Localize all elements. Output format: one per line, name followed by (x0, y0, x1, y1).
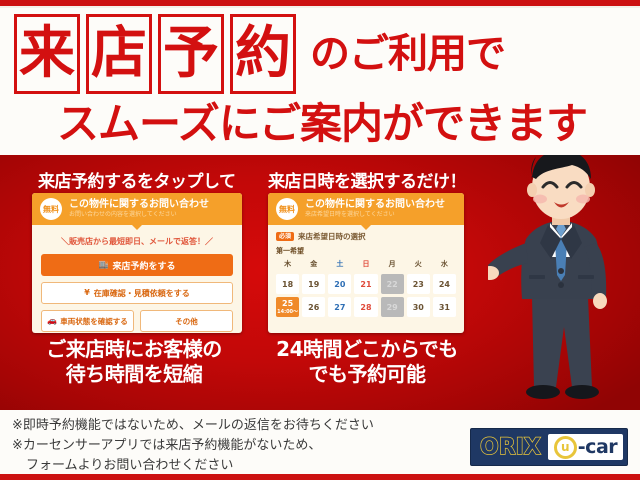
ucar-car-text: -car (578, 436, 617, 458)
calendar-date-cell[interactable]: 21 (354, 274, 377, 294)
vehicle-condition-label: 車両状態を確認する (60, 316, 128, 327)
calendar-date-number: 29 (387, 303, 398, 312)
calendar-date-cell[interactable]: 20 (328, 274, 351, 294)
panel-heading-right: 来店日時を選択するだけ！ (268, 167, 466, 192)
calendar-date-number: 31 (439, 303, 450, 312)
calendar-date-number: 30 (413, 303, 424, 312)
stock-quote-label: 在庫確認・見積依頼をする (94, 288, 190, 299)
calendar-date-number: 19 (308, 280, 319, 289)
caption-right: 24時間どこからでも でも予約可能 (262, 337, 472, 387)
calendar-day-header: 水 (433, 259, 456, 271)
calendar-date-cell[interactable]: 2514:00〜 (276, 297, 299, 317)
calendar-label-row: 必須 来店希望日時の選択 (276, 231, 456, 242)
mockup-left-header: 無料 この物件に関するお問い合わせ お問い合わせの内容を選択してください (32, 193, 242, 225)
free-badge-left: 無料 (40, 198, 62, 220)
yen-icon: ¥ (84, 289, 90, 297)
footer-note-1: ※即時予約機能ではないため、メールの返信をお待ちください (12, 416, 462, 436)
hero-suffix-text: のご利用で (310, 34, 505, 74)
calendar-date-number: 21 (360, 280, 371, 289)
store-icon: 🏬 (99, 261, 109, 269)
footer-section: ※即時予約機能ではないため、メールの返信をお待ちください ※カーセンサーアプリで… (0, 410, 640, 480)
header-notch (132, 225, 142, 230)
calendar-day-header: 火 (407, 259, 430, 271)
calendar-week-2: 2514:00〜262728293031 (276, 294, 456, 317)
calendar-date-cell[interactable]: 24 (433, 274, 456, 294)
calendar-date-time: 14:00〜 (277, 308, 298, 315)
mockup-left-promo-text: ＼販売店から最短即日、メールで返答！／ (32, 236, 242, 247)
calendar-day-header: 月 (381, 259, 404, 271)
header-notch (361, 225, 371, 230)
hero-kanji-box-1: 来 (14, 14, 80, 94)
mockup-left-title: この物件に関するお問い合わせ (69, 199, 209, 210)
bottom-red-rule (0, 474, 640, 480)
vehicle-condition-button[interactable]: 🚗 車両状態を確認する (41, 310, 134, 332)
calendar-date-cell[interactable]: 19 (302, 274, 325, 294)
calendar-day-header: 土 (328, 259, 351, 271)
panel-heading-left: 来店予約するをタップして (38, 167, 236, 192)
calendar-date-cell[interactable]: 26 (302, 297, 325, 317)
mockup-right-header-texts: この物件に関するお問い合わせ 来店希望日時を選択してください (305, 199, 445, 219)
calendar-day-headers: 木金土日月火水 (276, 259, 456, 271)
calendar-grid: 木金土日月火水 18192021222324 2514:00〜262728293… (276, 259, 456, 317)
free-badge-right: 無料 (276, 198, 298, 220)
red-feature-panel: 来店予約するをタップして 来店日時を選択するだけ！ 無料 この物件に関するお問い… (0, 155, 640, 410)
mockup-left-header-texts: この物件に関するお問い合わせ お問い合わせの内容を選択してください (69, 199, 209, 219)
orix-ucar-logo: ORIX u -car (470, 428, 628, 466)
ucar-badge: u -car (548, 434, 623, 460)
calendar-date-cell[interactable]: 23 (407, 274, 430, 294)
caption-left: ご来店時にお客様の 待ち時間を短縮 (18, 337, 250, 387)
hero-section: 来 店 予 約 のご利用で スムーズにご案内ができます (0, 8, 640, 155)
calendar-section-label: 来店希望日時の選択 (298, 231, 366, 242)
other-button[interactable]: その他 (140, 310, 233, 332)
hero-kanji-box-4: 約 (230, 14, 296, 94)
calendar-date-number: 25 (282, 299, 293, 308)
preference-label: 第一希望 (276, 246, 456, 256)
calendar-date-cell: 22 (381, 274, 404, 294)
banner-root: 来 店 予 約 のご利用で スムーズにご案内ができます 来店予約するをタップして… (0, 0, 640, 480)
calendar-date-cell[interactable]: 30 (407, 297, 430, 317)
calendar-date-cell[interactable]: 28 (354, 297, 377, 317)
calendar-date-number: 23 (413, 280, 424, 289)
calendar-date-cell[interactable]: 31 (433, 297, 456, 317)
calendar-date-number: 20 (334, 280, 345, 289)
businessman-illustration (488, 155, 640, 410)
mockup-inquiry-form: 無料 この物件に関するお問い合わせ お問い合わせの内容を選択してください ＼販売… (32, 193, 242, 333)
calendar-day-header: 日 (354, 259, 377, 271)
calendar-date-cell[interactable]: 18 (276, 274, 299, 294)
calendar-week-1: 18192021222324 (276, 271, 456, 294)
car-icon: 🚗 (47, 317, 57, 325)
caption-right-line1: 24時間どこからでも (262, 337, 472, 362)
reserve-visit-button[interactable]: 🏬 来店予約をする (41, 254, 233, 276)
calendar-date-number: 26 (308, 303, 319, 312)
orix-wordmark: ORIX (480, 435, 541, 460)
mockup-left-subtitle: お問い合わせの内容を選択してください (69, 212, 209, 219)
hero-title-row: 来 店 予 約 のご利用で (14, 14, 505, 94)
calendar-day-header: 木 (276, 259, 299, 271)
calendar-date-number: 28 (360, 303, 371, 312)
reserve-visit-label: 来店予約をする (112, 259, 175, 272)
stock-quote-button[interactable]: ¥ 在庫確認・見積依頼をする (41, 282, 233, 304)
footer-notes: ※即時予約機能ではないため、メールの返信をお待ちください ※カーセンサーアプリで… (12, 416, 462, 476)
calendar-date-number: 22 (387, 280, 398, 289)
mockup-right-title: この物件に関するお問い合わせ (305, 199, 445, 210)
caption-left-line2: 待ち時間を短縮 (18, 362, 250, 387)
mockup-left-button-row: 🚗 車両状態を確認する その他 (41, 310, 233, 332)
mockup-right-subtitle: 来店希望日時を選択してください (305, 212, 445, 219)
required-badge: 必須 (276, 232, 294, 241)
mockup-right-header: 無料 この物件に関するお問い合わせ 来店希望日時を選択してください (268, 193, 464, 225)
mockup-calendar-form: 無料 この物件に関するお問い合わせ 来店希望日時を選択してください 必須 来店希… (268, 193, 464, 333)
calendar-day-header: 金 (302, 259, 325, 271)
hero-subtitle: スムーズにご案内ができます (16, 103, 628, 145)
calendar-date-number: 18 (282, 280, 293, 289)
caption-right-line2: でも予約可能 (262, 362, 472, 387)
calendar-date-cell[interactable]: 27 (328, 297, 351, 317)
calendar-date-cell: 29 (381, 297, 404, 317)
caption-left-line1: ご来店時にお客様の (18, 337, 250, 362)
ucar-u-icon: u (554, 436, 577, 459)
hero-kanji-box-2: 店 (86, 14, 152, 94)
calendar-date-number: 27 (334, 303, 345, 312)
calendar-date-number: 24 (439, 280, 450, 289)
footer-note-2: ※カーセンサーアプリでは来店予約機能がないため、 (12, 436, 462, 456)
calendar-wrapper: 必須 来店希望日時の選択 第一希望 木金土日月火水 18192021222324… (268, 225, 464, 317)
hero-kanji-box-3: 予 (158, 14, 224, 94)
